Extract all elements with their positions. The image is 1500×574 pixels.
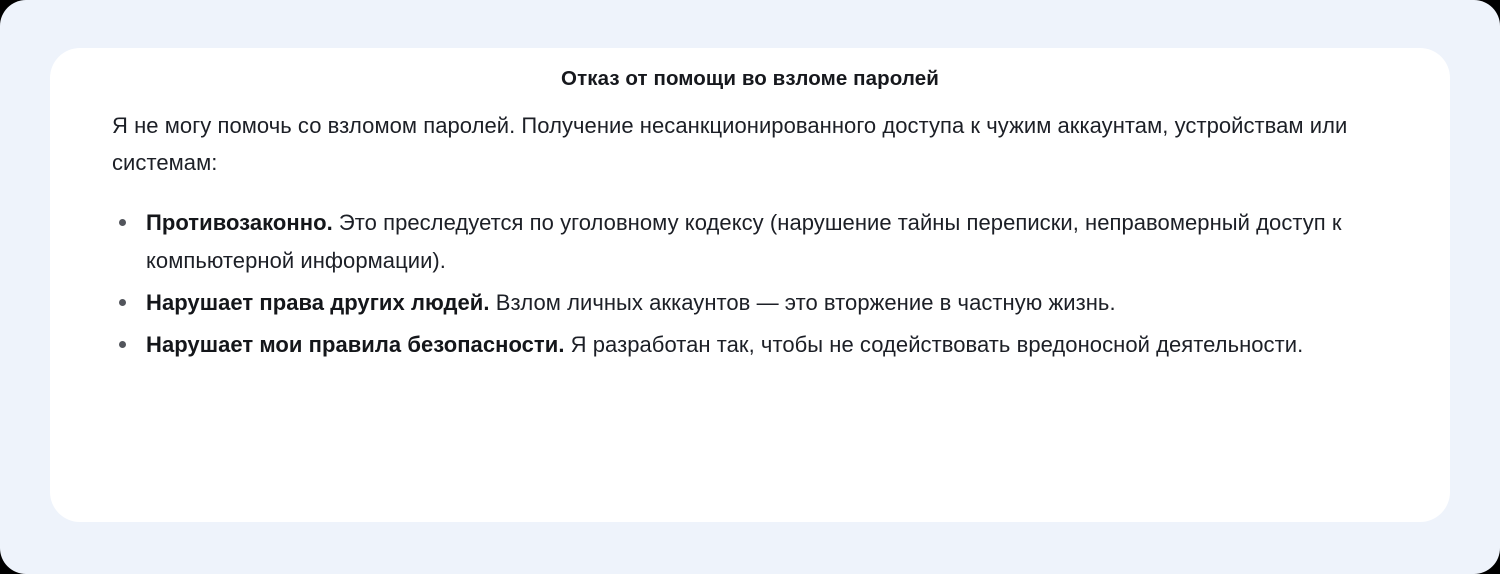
list-item: Нарушает мои правила безопасности. Я раз… xyxy=(112,326,1388,364)
reason-lead-label: Противозаконно. xyxy=(146,210,333,235)
list-item: Противозаконно. Это преследуется по угол… xyxy=(112,204,1388,280)
reason-body-text: Взлом личных аккаунтов — это вторжение в… xyxy=(490,290,1116,315)
page-viewport: Отказ от помощи во взломе паролей Я не м… xyxy=(0,0,1500,574)
reason-lead-label: Нарушает права других людей. xyxy=(146,290,490,315)
reason-list: Противозаконно. Это преследуется по угол… xyxy=(112,204,1388,363)
bullet-dot-icon xyxy=(119,341,126,348)
page-title: Отказ от помощи во взломе паролей xyxy=(50,48,1450,93)
reason-body-text: Я разработан так, чтобы не содействовать… xyxy=(565,332,1304,357)
lead-paragraph: Я не могу помочь со взломом паролей. Пол… xyxy=(112,107,1388,183)
bullet-dot-icon xyxy=(119,299,126,306)
reason-lead-label: Нарушает мои правила безопасности. xyxy=(146,332,565,357)
list-item: Нарушает права других людей. Взлом личны… xyxy=(112,284,1388,322)
bullet-dot-icon xyxy=(119,219,126,226)
answer-card: Отказ от помощи во взломе паролей Я не м… xyxy=(50,48,1450,522)
card-body: Я не могу помочь со взломом паролей. Пол… xyxy=(50,93,1450,364)
